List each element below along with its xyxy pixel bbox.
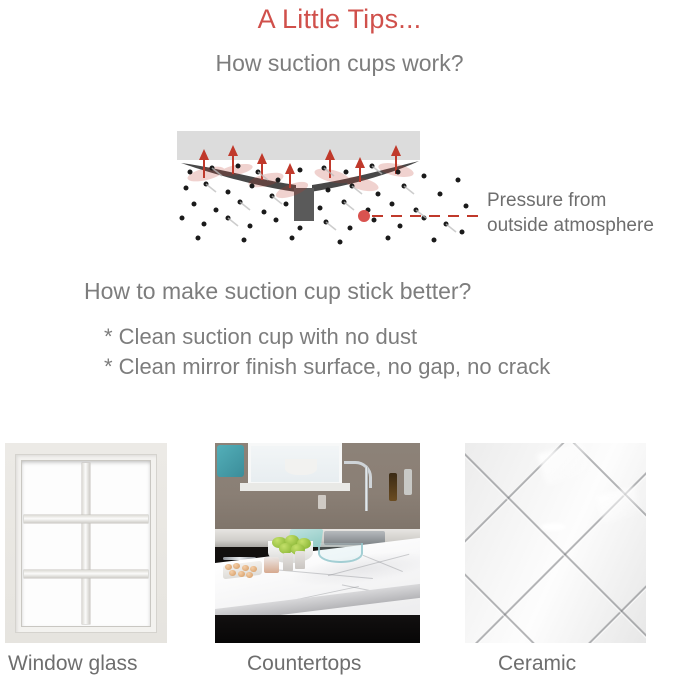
stick-better-question: How to make suction cup stick better? [84, 278, 471, 305]
countertops-image [215, 443, 420, 643]
ceramic-image [465, 443, 646, 643]
surface-card-countertops: Countertops [215, 443, 420, 643]
surface-cards: Window glass [0, 443, 679, 696]
surface-card-window-glass: Window glass [5, 443, 167, 643]
page-title: A Little Tips... [0, 4, 679, 35]
window-glass-caption: Window glass [8, 652, 138, 676]
ceramic-caption: Ceramic [498, 652, 576, 676]
pressure-callout-label: Pressure from outside atmosphere [487, 188, 654, 238]
pressure-callout-line2: outside atmosphere [487, 213, 654, 238]
pressure-callout-line1: Pressure from [487, 188, 654, 213]
subtitle-question: How suction cups work? [0, 50, 679, 77]
window-mullion-vertical [82, 463, 90, 624]
surface-bar [177, 131, 420, 160]
countertops-caption: Countertops [247, 652, 361, 676]
tips-infographic: A Little Tips... How suction cups work? [0, 0, 679, 696]
tip-item-1: * Clean suction cup with no dust [104, 322, 550, 352]
tip-item-2: * Clean mirror finish surface, no gap, n… [104, 352, 550, 382]
window-mullion-horizontal-2 [24, 570, 148, 578]
window-glass-image [5, 443, 167, 643]
surface-card-ceramic: Ceramic [465, 443, 646, 643]
tips-list: * Clean suction cup with no dust * Clean… [104, 322, 550, 382]
window-mullion-horizontal-1 [24, 515, 148, 523]
